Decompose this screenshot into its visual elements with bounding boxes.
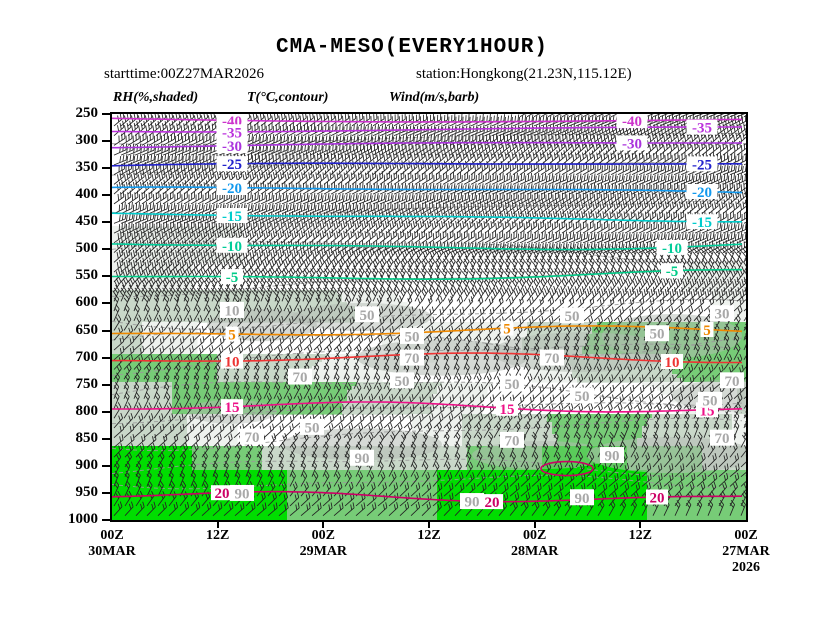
y-tick-300	[102, 140, 110, 142]
legend-rh: RH(%,shaded)	[113, 90, 198, 106]
y-tick-label-250: 250	[52, 105, 98, 122]
legend-temperature: T(°C,contour)	[247, 90, 328, 106]
y-tick-label-550: 550	[52, 267, 98, 284]
legend-wind: Wind(m/s,barb)	[389, 90, 479, 106]
y-tick-label-500: 500	[52, 240, 98, 257]
x-tick-label-2: 00Z29MAR	[278, 528, 368, 560]
x-tick-3	[428, 521, 430, 528]
y-tick-label-800: 800	[52, 403, 98, 420]
y-tick-label-700: 700	[52, 349, 98, 366]
y-tick-950	[102, 492, 110, 494]
y-tick-label-1000: 1000	[52, 511, 98, 528]
y-tick-label-950: 950	[52, 484, 98, 501]
cross-section-svg: -40-40-35-35-30-30-25-25-20-20-15-15-10-…	[112, 114, 746, 520]
plot-area: -40-40-35-35-30-30-25-25-20-20-15-15-10-…	[110, 112, 748, 522]
y-tick-label-750: 750	[52, 376, 98, 393]
y-tick-label-400: 400	[52, 186, 98, 203]
chart-page: CMA-MESO(EVERY1HOUR) starttime:00Z27MAR2…	[0, 0, 824, 637]
y-tick-350	[102, 167, 110, 169]
y-tick-550	[102, 275, 110, 277]
y-tick-400	[102, 194, 110, 196]
y-tick-900	[102, 465, 110, 467]
y-tick-label-650: 650	[52, 322, 98, 339]
x-tick-label-0: 00Z30MAR	[67, 528, 157, 560]
y-tick-label-350: 350	[52, 159, 98, 176]
y-tick-450	[102, 221, 110, 223]
y-tick-label-300: 300	[52, 132, 98, 149]
x-tick-label-5: 12Z	[595, 528, 685, 544]
y-tick-600	[102, 302, 110, 304]
y-tick-650	[102, 330, 110, 332]
y-tick-label-900: 900	[52, 457, 98, 474]
y-tick-850	[102, 438, 110, 440]
y-tick-1000	[102, 519, 110, 521]
y-tick-750	[102, 384, 110, 386]
y-tick-label-850: 850	[52, 430, 98, 447]
y-tick-700	[102, 357, 110, 359]
x-tick-1	[217, 521, 219, 528]
x-tick-5	[639, 521, 641, 528]
y-tick-label-600: 600	[52, 294, 98, 311]
chart-title: CMA-MESO(EVERY1HOUR)	[0, 36, 824, 59]
x-tick-4	[534, 521, 536, 528]
x-tick-2	[322, 521, 324, 528]
y-tick-800	[102, 411, 110, 413]
y-tick-500	[102, 248, 110, 250]
x-tick-label-1: 12Z	[173, 528, 263, 544]
x-tick-label-3: 12Z	[384, 528, 474, 544]
y-tick-250	[102, 113, 110, 115]
x-tick-label-4: 00Z28MAR	[490, 528, 580, 560]
starttime-label: starttime:00Z27MAR2026	[104, 66, 264, 83]
station-label: station:Hongkong(21.23N,115.12E)	[416, 66, 632, 83]
y-tick-label-450: 450	[52, 213, 98, 230]
x-tick-label-6: 00Z27MAR2026	[701, 528, 791, 576]
